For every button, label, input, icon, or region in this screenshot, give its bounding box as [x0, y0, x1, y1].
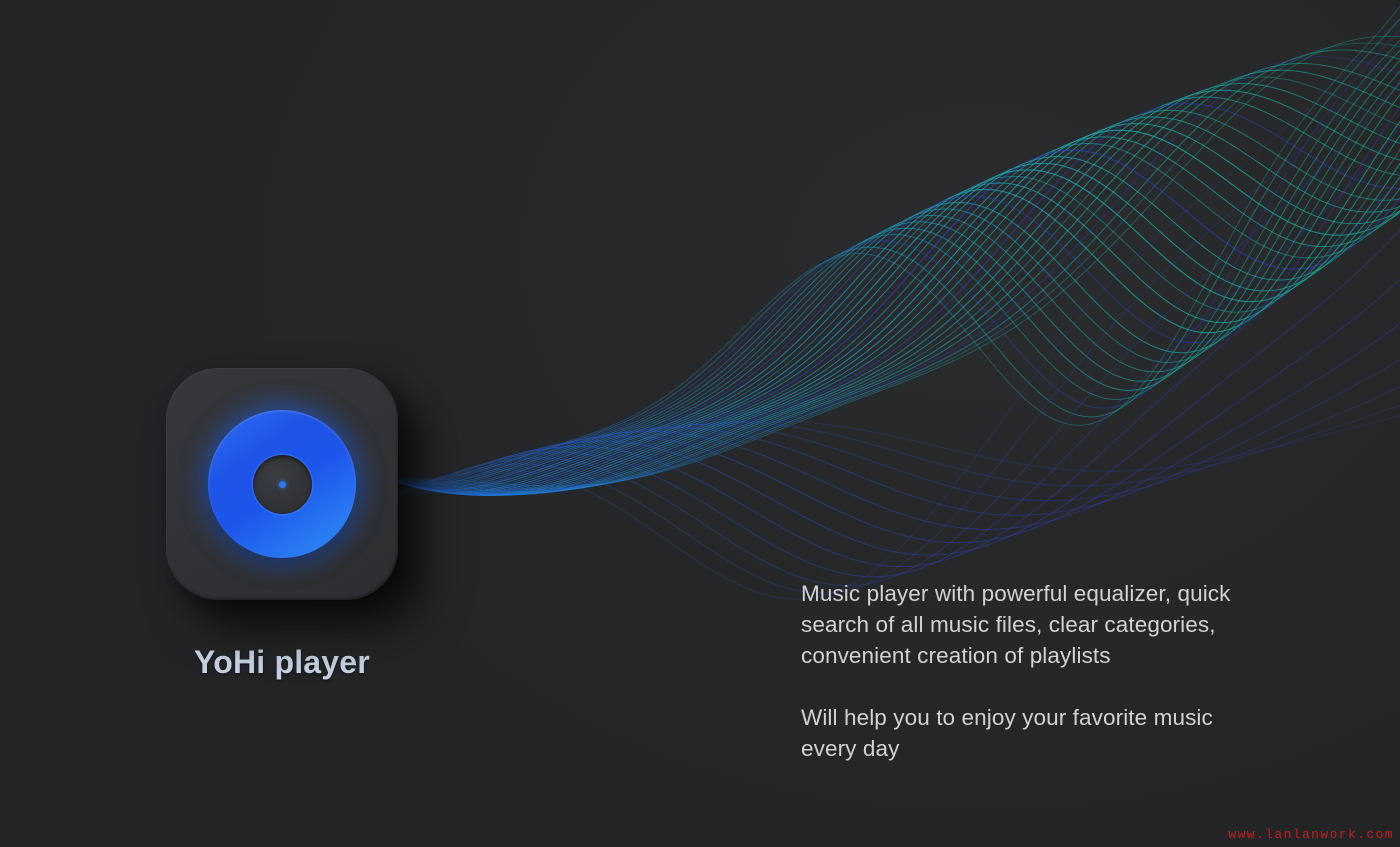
vinyl-record-icon	[208, 410, 356, 558]
app-title: YoHi player	[166, 644, 398, 681]
site-watermark: www.lanlanwork.com	[1228, 827, 1394, 842]
app-identity-block: YoHi player	[166, 368, 398, 681]
description-paragraph-2: Will help you to enjoy your favorite mus…	[801, 702, 1233, 764]
app-promo-canvas: YoHi player Music player with powerful e…	[0, 0, 1400, 847]
description-paragraph-1: Music player with powerful equalizer, qu…	[801, 578, 1233, 671]
app-description: Music player with powerful equalizer, qu…	[801, 578, 1233, 764]
record-spindle-dot	[279, 481, 286, 488]
record-label-hole	[253, 455, 312, 514]
app-icon-tile[interactable]	[166, 368, 398, 600]
